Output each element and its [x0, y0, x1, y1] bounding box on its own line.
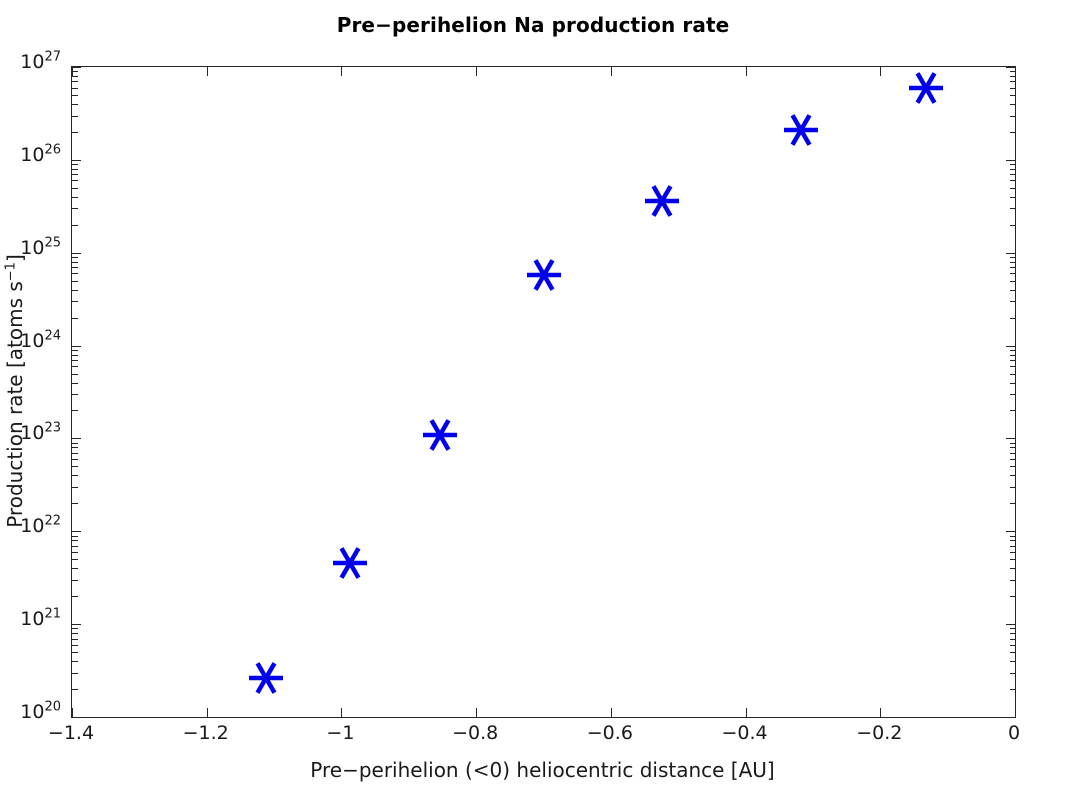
x-axis-tick [207, 67, 208, 76]
y-axis-minor-tick [1010, 318, 1016, 319]
y-axis-minor-tick [1010, 466, 1016, 467]
y-axis-minor-tick [72, 596, 78, 597]
y-axis-minor-tick [1010, 180, 1016, 181]
y-tick-exponent: 24 [44, 328, 61, 343]
y-axis-minor-tick [1010, 355, 1016, 356]
y-axis-minor-tick [1010, 661, 1016, 662]
y-tick-base: 10 [20, 422, 44, 444]
y-axis-minor-tick [72, 88, 78, 89]
y-axis-minor-tick [72, 355, 78, 356]
y-axis-tick [72, 253, 81, 254]
y-axis-minor-tick [1010, 360, 1016, 361]
y-axis-minor-tick [72, 689, 78, 690]
y-axis-tick [1006, 438, 1015, 439]
y-axis-minor-tick [1010, 197, 1016, 198]
y-axis-minor-tick [72, 459, 78, 460]
y-axis-minor-tick [1010, 374, 1016, 375]
y-axis-minor-tick [1010, 164, 1016, 165]
y-axis-minor-tick [1010, 257, 1016, 258]
y-axis-minor-tick [72, 559, 78, 560]
y-tick-base: 10 [20, 330, 44, 352]
y-axis-minor-tick [1010, 81, 1016, 82]
y-axis-minor-tick [72, 350, 78, 351]
y-axis-minor-tick [72, 580, 78, 581]
y-axis-minor-tick [1010, 104, 1016, 105]
y-tick-exponent: 27 [44, 50, 61, 65]
y-axis-minor-tick [1010, 169, 1016, 170]
y-axis-minor-tick [72, 116, 78, 117]
data-point-marker [784, 113, 818, 147]
y-axis-minor-tick [1010, 536, 1016, 537]
x-axis-tick-label: −1.2 [146, 722, 266, 744]
y-axis-minor-tick [1010, 366, 1016, 367]
y-axis-minor-tick [1010, 673, 1016, 674]
y-axis-minor-tick [72, 301, 78, 302]
figure-canvas: Pre−perihelion Na production rate Produc… [0, 0, 1066, 809]
y-tick-base: 10 [20, 237, 44, 259]
y-axis-minor-tick [72, 208, 78, 209]
y-axis-minor-tick [72, 267, 78, 268]
y-axis-minor-tick [1010, 568, 1016, 569]
y-axis-minor-tick [72, 453, 78, 454]
y-axis-minor-tick [72, 81, 78, 82]
y-axis-tick [72, 624, 81, 625]
x-axis-tick-label: −0.2 [819, 722, 939, 744]
y-tick-base: 10 [20, 144, 44, 166]
y-axis-minor-tick [72, 628, 78, 629]
y-axis-minor-tick [72, 447, 78, 448]
y-axis-minor-tick [1010, 639, 1016, 640]
y-axis-minor-tick [72, 104, 78, 105]
y-axis-tick [1006, 67, 1015, 68]
y-axis-minor-tick [1010, 443, 1016, 444]
y-axis-minor-tick [1010, 596, 1016, 597]
y-tick-exponent: 22 [44, 514, 61, 529]
y-axis-minor-tick [1010, 188, 1016, 189]
y-axis-minor-tick [72, 95, 78, 96]
x-axis-tick-label: −0.6 [550, 722, 670, 744]
y-axis-tick-label: 1027 [20, 53, 61, 72]
y-axis-minor-tick [72, 281, 78, 282]
y-axis-tick-label: 1026 [20, 146, 61, 165]
y-axis-tick-label: 1022 [20, 517, 61, 536]
y-axis-minor-tick [72, 366, 78, 367]
y-axis-minor-tick [1010, 273, 1016, 274]
y-axis-label-exponent: −1 [3, 262, 18, 281]
y-axis-minor-tick [72, 164, 78, 165]
y-axis-minor-tick [72, 257, 78, 258]
x-axis-label: Pre−perihelion (<0) heliocentric distanc… [71, 758, 1014, 782]
y-axis-tick [1006, 160, 1015, 161]
y-axis-tick-label: 1024 [20, 332, 61, 351]
y-axis-minor-tick [72, 552, 78, 553]
y-axis-tick [72, 717, 81, 718]
y-axis-minor-tick [1010, 540, 1016, 541]
y-axis-minor-tick [72, 639, 78, 640]
y-axis-minor-tick [1010, 281, 1016, 282]
x-axis-tick-label: −0.8 [415, 722, 535, 744]
data-series-layer [72, 67, 1015, 717]
y-axis-minor-tick [72, 475, 78, 476]
y-tick-base: 10 [20, 701, 44, 723]
y-axis-minor-tick [72, 174, 78, 175]
y-axis-minor-tick [1010, 71, 1016, 72]
x-axis-tick-label: −0.4 [685, 722, 805, 744]
data-point-marker [333, 546, 367, 580]
y-axis-label-text: Production rate [atoms s [3, 281, 27, 528]
y-axis-minor-tick [72, 374, 78, 375]
x-axis-tick-label: −1 [280, 722, 400, 744]
y-axis-minor-tick [72, 71, 78, 72]
x-axis-tick [72, 708, 73, 717]
y-axis-minor-tick [72, 318, 78, 319]
y-axis-label: Production rate [atoms s−1] [3, 254, 27, 528]
y-axis-tick-label: 1020 [20, 703, 61, 722]
y-axis-minor-tick [1010, 459, 1016, 460]
y-tick-base: 10 [20, 51, 44, 73]
y-axis-minor-tick [72, 410, 78, 411]
y-axis-tick [72, 438, 81, 439]
y-tick-exponent: 23 [44, 421, 61, 436]
x-axis-tick [1015, 708, 1016, 717]
y-axis-minor-tick [1010, 262, 1016, 263]
y-axis-minor-tick [72, 546, 78, 547]
y-tick-exponent: 21 [44, 607, 61, 622]
y-axis-minor-tick [1010, 394, 1016, 395]
y-axis-minor-tick [1010, 645, 1016, 646]
x-axis-tick [341, 67, 342, 76]
y-axis-minor-tick [72, 487, 78, 488]
y-axis-minor-tick [1010, 225, 1016, 226]
y-axis-tick-label: 1021 [20, 610, 61, 629]
y-axis-minor-tick [72, 503, 78, 504]
y-axis-tick [72, 531, 81, 532]
y-axis-minor-tick [1010, 447, 1016, 448]
y-axis-minor-tick [72, 76, 78, 77]
chart-title: Pre−perihelion Na production rate [0, 13, 1066, 37]
data-point-marker [645, 184, 679, 218]
y-axis-minor-tick [1010, 132, 1016, 133]
y-axis-minor-tick [72, 466, 78, 467]
x-axis-tick [611, 67, 612, 76]
y-axis-minor-tick [1010, 88, 1016, 89]
y-tick-base: 10 [20, 608, 44, 630]
data-point-marker [249, 661, 283, 695]
y-tick-exponent: 25 [44, 235, 61, 250]
x-axis-tick [880, 708, 881, 717]
y-tick-exponent: 26 [44, 143, 61, 158]
x-axis-tick [611, 708, 612, 717]
y-tick-exponent: 20 [44, 700, 61, 715]
y-axis-minor-tick [1010, 487, 1016, 488]
y-axis-minor-tick [1010, 116, 1016, 117]
y-axis-minor-tick [1010, 628, 1016, 629]
y-axis-minor-tick [1010, 503, 1016, 504]
y-axis-minor-tick [72, 360, 78, 361]
x-axis-tick [476, 67, 477, 76]
plot-area [71, 66, 1016, 718]
y-axis-minor-tick [72, 180, 78, 181]
y-axis-tick [1006, 253, 1015, 254]
x-axis-tick [341, 708, 342, 717]
y-axis-minor-tick [72, 540, 78, 541]
y-axis-minor-tick [1010, 290, 1016, 291]
y-axis-tick-label: 1023 [20, 424, 61, 443]
y-axis-minor-tick [72, 262, 78, 263]
y-axis-minor-tick [72, 633, 78, 634]
y-axis-minor-tick [72, 273, 78, 274]
y-axis-minor-tick [1010, 95, 1016, 96]
y-axis-minor-tick [72, 132, 78, 133]
x-axis-tick [207, 708, 208, 717]
y-axis-tick [1006, 346, 1015, 347]
x-axis-tick-label: −1.4 [11, 722, 131, 744]
y-axis-minor-tick [72, 169, 78, 170]
y-axis-tick [72, 346, 81, 347]
y-axis-minor-tick [72, 536, 78, 537]
y-axis-minor-tick [72, 197, 78, 198]
y-axis-minor-tick [1010, 76, 1016, 77]
y-axis-minor-tick [1010, 580, 1016, 581]
data-point-marker [423, 418, 457, 452]
y-axis-minor-tick [72, 673, 78, 674]
x-axis-tick [746, 67, 747, 76]
y-axis-minor-tick [1010, 689, 1016, 690]
y-axis-minor-tick [1010, 174, 1016, 175]
y-axis-minor-tick [1010, 552, 1016, 553]
y-axis-minor-tick [1010, 559, 1016, 560]
y-axis-tick-label: 1025 [20, 239, 61, 258]
y-axis-minor-tick [1010, 453, 1016, 454]
data-point-marker [909, 71, 943, 105]
y-axis-minor-tick [1010, 633, 1016, 634]
y-tick-base: 10 [20, 515, 44, 537]
y-axis-minor-tick [1010, 208, 1016, 209]
x-axis-tick [476, 708, 477, 717]
y-axis-minor-tick [1010, 301, 1016, 302]
y-axis-minor-tick [72, 443, 78, 444]
y-axis-minor-tick [72, 290, 78, 291]
y-axis-tick [1006, 624, 1015, 625]
y-axis-tick [1006, 531, 1015, 532]
y-axis-minor-tick [1010, 267, 1016, 268]
y-axis-tick [1006, 717, 1015, 718]
data-point-marker [527, 258, 561, 292]
y-axis-minor-tick [72, 652, 78, 653]
y-axis-minor-tick [72, 188, 78, 189]
y-axis-minor-tick [1010, 350, 1016, 351]
y-axis-minor-tick [72, 568, 78, 569]
y-axis-tick [72, 160, 81, 161]
x-axis-tick [1015, 67, 1016, 76]
y-axis-minor-tick [1010, 383, 1016, 384]
y-axis-minor-tick [72, 394, 78, 395]
y-axis-minor-tick [1010, 546, 1016, 547]
y-axis-minor-tick [72, 225, 78, 226]
y-axis-minor-tick [1010, 410, 1016, 411]
y-axis-minor-tick [72, 661, 78, 662]
x-axis-tick-label: 0 [954, 722, 1066, 744]
y-axis-minor-tick [1010, 475, 1016, 476]
y-axis-tick [72, 67, 81, 68]
y-axis-minor-tick [1010, 652, 1016, 653]
x-axis-tick [880, 67, 881, 76]
y-axis-minor-tick [72, 383, 78, 384]
x-axis-tick [746, 708, 747, 717]
y-axis-minor-tick [72, 645, 78, 646]
